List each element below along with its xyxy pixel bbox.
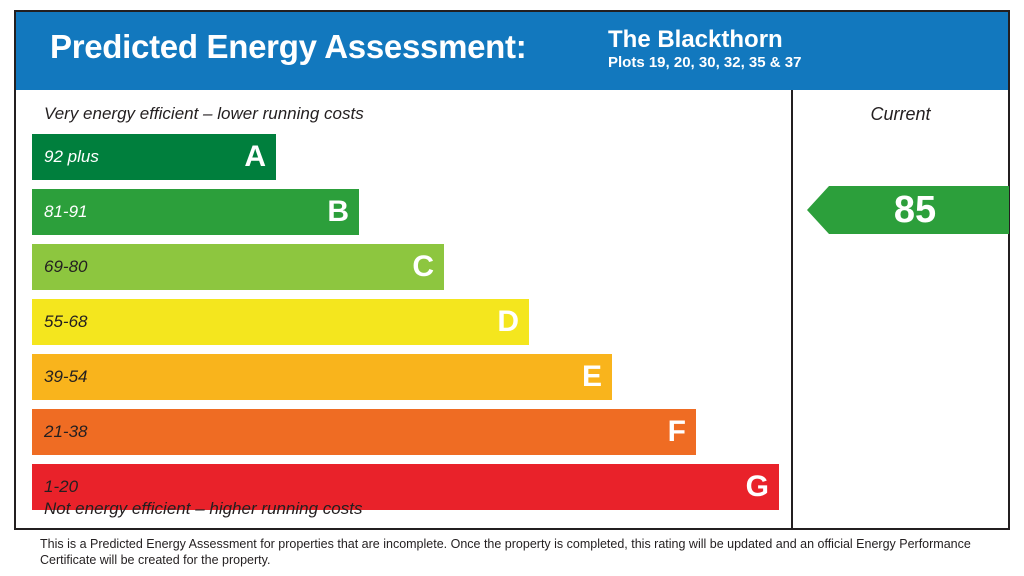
property-name: The Blackthorn xyxy=(608,26,801,53)
band-letter-label: F xyxy=(668,417,686,447)
current-rating-value: 85 xyxy=(807,186,1009,234)
band-letter-label: B xyxy=(327,197,349,227)
band-range-label: 1-20 xyxy=(44,477,78,497)
band-range-label: 81-91 xyxy=(44,202,87,222)
energy-band-a: 92 plusA xyxy=(32,134,276,180)
property-plots: Plots 19, 20, 30, 32, 35 & 37 xyxy=(608,53,801,72)
certificate-header: Predicted Energy Assessment: The Blackth… xyxy=(16,12,1008,90)
band-range-label: 92 plus xyxy=(44,147,99,167)
band-letter-label: D xyxy=(497,307,519,337)
property-identity: The Blackthorn Plots 19, 20, 30, 32, 35 … xyxy=(608,26,801,72)
band-range-label: 69-80 xyxy=(44,257,87,277)
certificate-frame: Predicted Energy Assessment: The Blackth… xyxy=(14,10,1010,530)
energy-band-c: 69-80C xyxy=(32,244,444,290)
band-range-label: 55-68 xyxy=(44,312,87,332)
band-letter-label: A xyxy=(244,142,266,172)
band-range-label: 39-54 xyxy=(44,367,87,387)
energy-band-e: 39-54E xyxy=(32,354,612,400)
current-column-header: Current xyxy=(791,104,1010,125)
page-title: Predicted Energy Assessment: xyxy=(50,28,526,66)
current-rating-column: Current 85 xyxy=(791,90,1010,528)
energy-band-f: 21-38F xyxy=(32,409,696,455)
current-rating-arrow: 85 xyxy=(807,186,1009,234)
caption-inefficient: Not energy efficient – higher running co… xyxy=(44,499,362,519)
band-letter-label: E xyxy=(582,362,602,392)
energy-band-b: 81-91B xyxy=(32,189,359,235)
footer-note: This is a Predicted Energy Assessment fo… xyxy=(40,536,990,568)
epc-certificate-graphic: Predicted Energy Assessment: The Blackth… xyxy=(0,0,1024,576)
band-letter-label: G xyxy=(746,472,769,502)
band-letter-label: C xyxy=(412,252,434,282)
energy-band-d: 55-68D xyxy=(32,299,529,345)
band-range-label: 21-38 xyxy=(44,422,87,442)
